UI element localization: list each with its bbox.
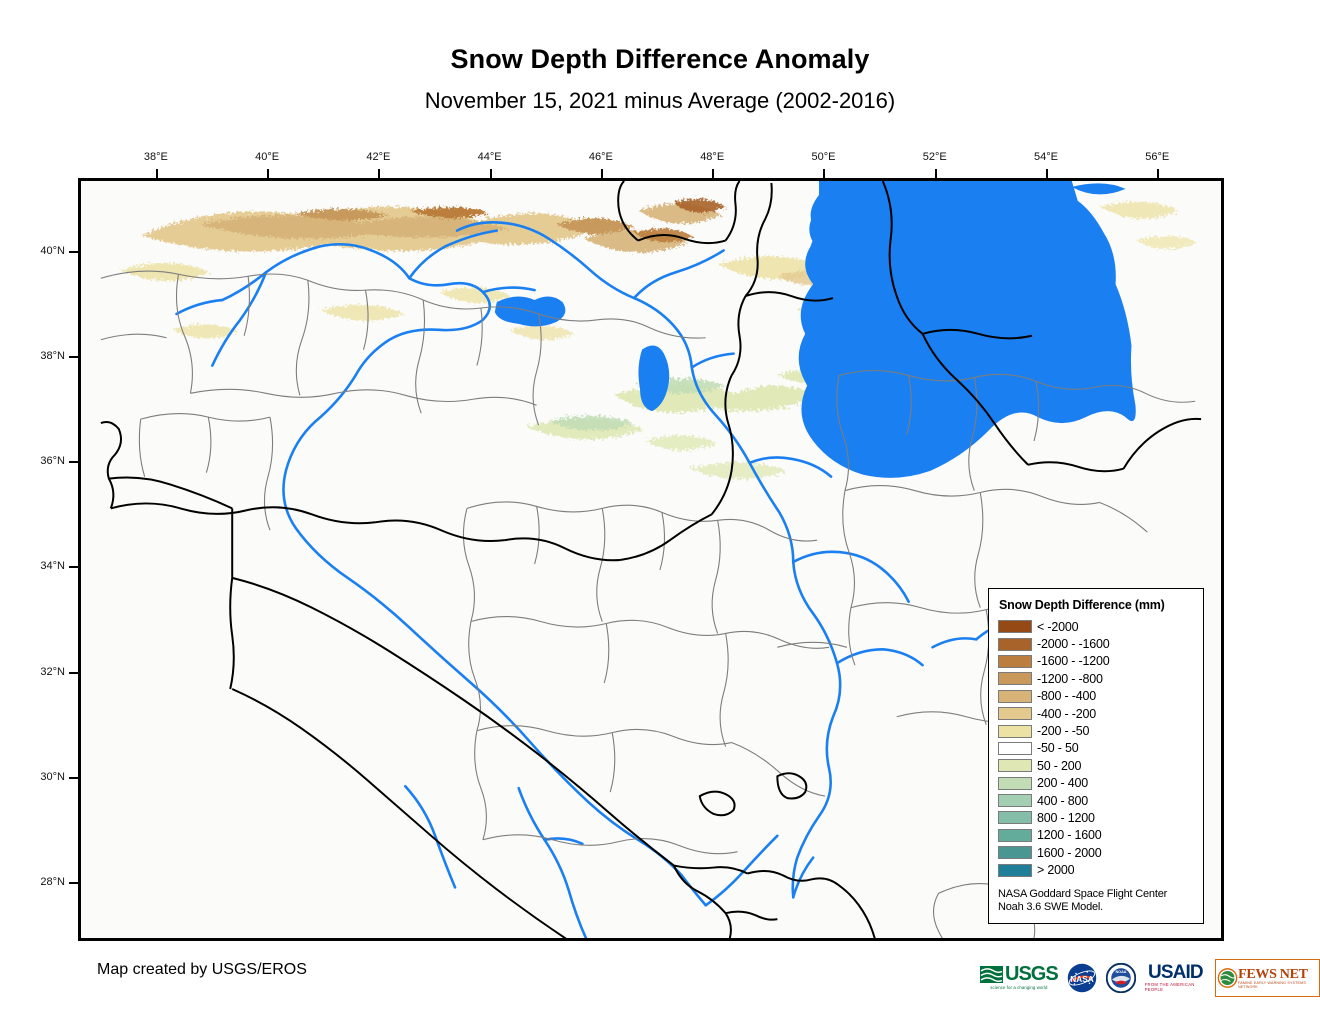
lon-tick-label: 38°E bbox=[126, 151, 186, 163]
legend-swatch bbox=[998, 638, 1032, 651]
legend-label: -200 - -50 bbox=[1037, 724, 1089, 738]
usgs-tagline: science for a changing world bbox=[990, 985, 1047, 990]
legend-label: 50 - 200 bbox=[1037, 759, 1081, 773]
legend-label: 1600 - 2000 bbox=[1037, 846, 1102, 860]
legend-entries: < -2000-2000 - -1600-1600 - -1200-1200 -… bbox=[998, 618, 1195, 879]
lon-tick-mark bbox=[823, 169, 825, 178]
lat-tick-mark bbox=[69, 672, 78, 674]
lat-tick-label: 32°N bbox=[5, 666, 65, 678]
lon-tick-mark bbox=[490, 169, 492, 178]
page-subtitle: November 15, 2021 minus Average (2002-20… bbox=[0, 88, 1320, 114]
legend-entry: -50 - 50 bbox=[998, 740, 1195, 757]
legend-swatch bbox=[998, 794, 1032, 807]
legend-swatch bbox=[998, 672, 1032, 685]
legend-entry: > 2000 bbox=[998, 861, 1195, 878]
lat-tick-label: 30°N bbox=[5, 771, 65, 783]
lon-tick-mark bbox=[601, 169, 603, 178]
lon-tick-label: 54°E bbox=[1016, 151, 1076, 163]
agency-logos: USGS science for a changing world NASA N… bbox=[980, 958, 1320, 998]
lat-tick-mark bbox=[69, 251, 78, 253]
lat-tick-label: 34°N bbox=[5, 560, 65, 572]
lat-tick-label: 40°N bbox=[5, 245, 65, 257]
legend-entry: < -2000 bbox=[998, 618, 1195, 635]
legend-label: -1600 - -1200 bbox=[1037, 654, 1109, 668]
legend-entry: -400 - -200 bbox=[998, 705, 1195, 722]
lakes-layer bbox=[495, 297, 669, 412]
legend-swatch bbox=[998, 655, 1032, 668]
legend-swatch bbox=[998, 707, 1032, 720]
legend-label: -2000 - -1600 bbox=[1037, 637, 1109, 651]
usgs-logo[interactable]: USGS science for a changing world bbox=[980, 961, 1058, 995]
legend-swatch bbox=[998, 742, 1032, 755]
legend-entry: -200 - -50 bbox=[998, 722, 1195, 739]
fewsnet-tagline: FAMINE EARLY WARNING SYSTEMS NETWORK bbox=[1238, 981, 1316, 989]
legend-swatch bbox=[998, 725, 1032, 738]
legend-label: -800 - -400 bbox=[1037, 689, 1096, 703]
legend-entry: 1200 - 1600 bbox=[998, 827, 1195, 844]
lat-tick-label: 38°N bbox=[5, 350, 65, 362]
legend-label: < -2000 bbox=[1037, 620, 1078, 634]
lon-tick-mark bbox=[1046, 169, 1048, 178]
noaa-seal-icon: NOAA bbox=[1106, 963, 1136, 993]
legend-entry: 400 - 800 bbox=[998, 792, 1195, 809]
page-title: Snow Depth Difference Anomaly bbox=[0, 44, 1320, 75]
legend-entry: 1600 - 2000 bbox=[998, 844, 1195, 861]
fewsnet-wordmark: FEWS NET bbox=[1238, 968, 1316, 981]
lat-tick-label: 36°N bbox=[5, 455, 65, 467]
legend-entry: 200 - 400 bbox=[998, 775, 1195, 792]
fewsnet-logo[interactable]: FEWS NET FAMINE EARLY WARNING SYSTEMS NE… bbox=[1215, 959, 1320, 997]
legend-entry: 50 - 200 bbox=[998, 757, 1195, 774]
lon-tick-label: 52°E bbox=[905, 151, 965, 163]
lon-tick-label: 44°E bbox=[460, 151, 520, 163]
lon-tick-label: 40°E bbox=[237, 151, 297, 163]
lat-tick-mark bbox=[69, 461, 78, 463]
legend-title: Snow Depth Difference (mm) bbox=[999, 598, 1195, 612]
lon-tick-mark bbox=[378, 169, 380, 178]
fewsnet-globe-icon bbox=[1217, 966, 1238, 990]
usgs-wave-icon bbox=[980, 966, 1003, 983]
svg-text:NASA: NASA bbox=[1070, 975, 1093, 984]
lat-tick-mark bbox=[69, 777, 78, 779]
legend-swatch bbox=[998, 829, 1032, 842]
lat-tick-mark bbox=[69, 566, 78, 568]
legend-label: 800 - 1200 bbox=[1037, 811, 1095, 825]
usgs-wordmark: USGS bbox=[1005, 966, 1058, 983]
lon-tick-label: 56°E bbox=[1127, 151, 1187, 163]
usaid-tagline: FROM THE AMERICAN PEOPLE bbox=[1145, 982, 1206, 992]
lon-tick-mark bbox=[156, 169, 158, 178]
legend-swatch bbox=[998, 690, 1032, 703]
lat-tick-label: 28°N bbox=[5, 876, 65, 888]
legend-swatch bbox=[998, 620, 1032, 633]
lat-tick-mark bbox=[69, 882, 78, 884]
map-credit: Map created by USGS/EROS bbox=[97, 961, 307, 979]
legend-label: -400 - -200 bbox=[1037, 707, 1096, 721]
legend-swatch bbox=[998, 759, 1032, 772]
legend-swatch bbox=[998, 777, 1032, 790]
usaid-wordmark: USAID bbox=[1148, 964, 1203, 981]
svg-text:NOAA: NOAA bbox=[1115, 970, 1126, 974]
legend-label: 400 - 800 bbox=[1037, 794, 1088, 808]
legend-label: -50 - 50 bbox=[1037, 741, 1078, 755]
usaid-logo[interactable]: USAID FROM THE AMERICAN PEOPLE bbox=[1145, 961, 1206, 995]
legend-entry: -2000 - -1600 bbox=[998, 635, 1195, 652]
lon-tick-mark bbox=[1157, 169, 1159, 178]
lon-tick-mark bbox=[267, 169, 269, 178]
lat-tick-mark bbox=[69, 356, 78, 358]
legend-footer: NASA Goddard Space Flight Center Noah 3.… bbox=[998, 888, 1195, 915]
lon-tick-label: 48°E bbox=[682, 151, 742, 163]
legend-swatch bbox=[998, 864, 1032, 877]
lon-tick-label: 42°E bbox=[348, 151, 408, 163]
lon-tick-mark bbox=[712, 169, 714, 178]
legend-entry: -1600 - -1200 bbox=[998, 653, 1195, 670]
legend-label: 200 - 400 bbox=[1037, 776, 1088, 790]
nasa-logo[interactable]: NASA bbox=[1067, 961, 1097, 995]
legend-label: > 2000 bbox=[1037, 863, 1074, 877]
legend-entry: -800 - -400 bbox=[998, 688, 1195, 705]
lon-tick-label: 50°E bbox=[793, 151, 853, 163]
noaa-logo[interactable]: NOAA bbox=[1106, 961, 1136, 995]
legend-footer-line2: Noah 3.6 SWE Model. bbox=[998, 901, 1195, 915]
legend-swatch bbox=[998, 846, 1032, 859]
lon-tick-mark bbox=[935, 169, 937, 178]
legend-entry: 800 - 1200 bbox=[998, 809, 1195, 826]
legend-entry: -1200 - -800 bbox=[998, 670, 1195, 687]
legend-footer-line1: NASA Goddard Space Flight Center bbox=[998, 888, 1195, 902]
legend-label: -1200 - -800 bbox=[1037, 672, 1103, 686]
caspian-sea bbox=[799, 181, 1136, 478]
map-legend[interactable]: Snow Depth Difference (mm) < -2000-2000 … bbox=[988, 588, 1204, 924]
nasa-meatball-icon: NASA bbox=[1067, 963, 1097, 993]
lon-tick-label: 46°E bbox=[571, 151, 631, 163]
legend-label: 1200 - 1600 bbox=[1037, 828, 1102, 842]
legend-swatch bbox=[998, 811, 1032, 824]
